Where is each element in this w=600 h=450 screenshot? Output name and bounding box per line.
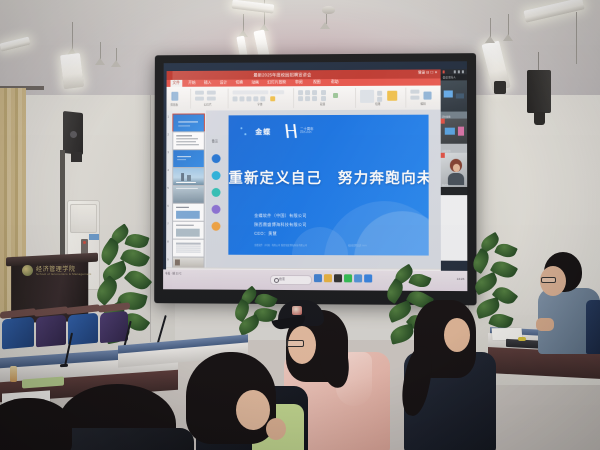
- video-tile-label: 讲台视角: [442, 114, 451, 118]
- swatch-teal[interactable]: [212, 188, 221, 197]
- tab-review[interactable]: 审阅: [295, 80, 303, 85]
- current-slide[interactable]: 金蝶 二十周年 2005-2025 重新定义自己 努力奔跑向未来 金蝶软件（中国…: [228, 115, 428, 256]
- light-rod: [72, 22, 73, 50]
- student-ponytail-right-face: [444, 318, 470, 352]
- desktop: 最新2025年度校园招聘宣讲会 登录 ⊟ ☐ ✕ 文件 开始 插入 设计 切换 …: [163, 61, 467, 291]
- thumb-title-line: [178, 121, 198, 122]
- vc-minimize-icon[interactable]: [454, 71, 456, 73]
- thumb-photo: [176, 229, 200, 237]
- shapes-gallery-icon[interactable]: [360, 90, 374, 103]
- tile-screen-object: [445, 128, 455, 135]
- slide-brand-logo: 金蝶: [255, 127, 271, 137]
- ribbon[interactable]: 剪贴板 幻灯片: [166, 85, 440, 111]
- align-center-icon[interactable]: [305, 96, 310, 101]
- file-explorer-icon[interactable]: [324, 274, 332, 282]
- vc-muted-icon: [441, 153, 445, 158]
- vc-maximize-icon[interactable]: [458, 71, 460, 73]
- ribbon-group-label: 幻灯片: [204, 103, 212, 107]
- slide-thumbnail-7[interactable]: [172, 221, 205, 240]
- video-call-panel[interactable]: 会议主持人 讲台视角 远端会场: [441, 69, 468, 195]
- highlighter-pen: [518, 337, 526, 341]
- thumb-chart: [176, 211, 200, 219]
- tab-design[interactable]: 设计: [220, 81, 228, 86]
- slide-thumbnail-5[interactable]: [172, 185, 205, 204]
- power-indicator-icon: [83, 241, 86, 244]
- thumb-table-head: [176, 243, 201, 245]
- ceiling-tube-light: [60, 53, 84, 89]
- underline-icon[interactable]: [246, 96, 251, 101]
- tab-help[interactable]: 帮助: [331, 80, 339, 85]
- justify-icon[interactable]: [321, 96, 326, 101]
- video-tile-1[interactable]: 讲台视角: [441, 80, 467, 119]
- thumb-number: 7: [167, 222, 169, 226]
- bullets-icon[interactable]: [298, 90, 303, 95]
- font-size-box[interactable]: [270, 90, 284, 94]
- thumb-person: [175, 259, 180, 265]
- quick-styles-icon[interactable]: [387, 91, 397, 101]
- video-tile-label: 黄老师: [442, 183, 449, 187]
- conference-chair: [2, 317, 34, 350]
- thumb-line: [176, 144, 199, 145]
- tile-person-object: [458, 127, 464, 136]
- tab-view[interactable]: 视图: [313, 80, 321, 85]
- meeting-icon[interactable]: [364, 274, 372, 282]
- thumb-table-row: [176, 250, 201, 251]
- speaker-bracket: [71, 152, 82, 162]
- slide-thumbnail-3[interactable]: [172, 149, 205, 168]
- thumb-line: [177, 156, 191, 157]
- smoke-detector-icon: [322, 6, 335, 14]
- swatch-cyan[interactable]: [212, 171, 221, 180]
- thumb-sub-line: [178, 125, 190, 126]
- replace-icon[interactable]: [410, 96, 419, 100]
- screenshot-root: 最新2025年度校园招聘宣讲会 登录 ⊟ ☐ ✕ 文件 开始 插入 设计 切换 …: [0, 0, 600, 450]
- swatch-blue[interactable]: [212, 154, 221, 163]
- school-name-english: School of Economics & Management: [36, 272, 92, 276]
- start-icon[interactable]: [314, 274, 322, 282]
- slide-footer-line-3: CEO：黄慧: [254, 231, 277, 237]
- slide-footer-line-1: 金蝶软件（中国）有限公司: [254, 213, 307, 219]
- slide-thumbnail-2[interactable]: [172, 131, 205, 150]
- thumb-number: 5: [167, 186, 169, 190]
- slide-thumbnail-6[interactable]: [172, 203, 205, 222]
- align-right-icon[interactable]: [312, 96, 317, 101]
- indent-icon[interactable]: [312, 90, 317, 95]
- slide-fineprint-left: 金蝶软件（中国）有限公司 陕西鼎盛博海科技有限公司: [254, 243, 307, 247]
- thumb-table-row: [176, 246, 201, 247]
- slide-footer-line-2: 陕西鼎盛博海科技有限公司: [254, 222, 307, 228]
- reset-icon[interactable]: [195, 97, 204, 101]
- thumb-number: 1: [167, 115, 169, 119]
- paste-icon[interactable]: [171, 92, 178, 101]
- tile-screen-object: [444, 90, 453, 97]
- thumb-line: [176, 182, 196, 183]
- student-front-center-face: [236, 390, 270, 430]
- lectern-nameplate: 经济管理学院 School of Economics & Management: [22, 264, 78, 279]
- video-call-self-name: 会议主持人: [443, 75, 456, 79]
- slide-main-title[interactable]: 重新定义自己 努力奔跑向未来: [228, 167, 428, 188]
- vc-record-icon[interactable]: [443, 71, 445, 73]
- speaker-driver-icon: [70, 131, 77, 138]
- bold-icon[interactable]: [233, 96, 238, 101]
- eyeglasses-icon: [286, 340, 304, 347]
- strikethrough-icon[interactable]: [253, 96, 258, 101]
- participant-face: [453, 164, 460, 172]
- video-panel-empty-area: [441, 195, 468, 261]
- shape-fill-icon[interactable]: [377, 91, 382, 96]
- thumb-line: [177, 159, 186, 160]
- speaker-horn: [534, 112, 545, 125]
- conference-chair: [586, 300, 600, 354]
- search-placeholder: 搜索: [279, 277, 285, 281]
- thumb-line: [176, 207, 189, 208]
- font-name-box[interactable]: [233, 90, 269, 94]
- layout-icon[interactable]: [207, 91, 216, 95]
- numbering-icon[interactable]: [305, 90, 310, 95]
- display-surface[interactable]: 最新2025年度校园招聘宣讲会 登录 ⊟ ☐ ✕ 文件 开始 插入 设计 切换 …: [163, 61, 467, 291]
- document-title: 最新2025年度校园招聘宣讲会: [253, 72, 311, 78]
- line-spacing-icon[interactable]: [321, 90, 326, 95]
- terminal-icon[interactable]: [334, 274, 342, 282]
- eyeglasses-icon: [541, 277, 556, 283]
- slide-brand-sub2: 2005-2025: [300, 131, 311, 134]
- vc-muted-icon: [441, 119, 445, 124]
- thumb-line: [176, 188, 198, 189]
- powerpoint-window[interactable]: 最新2025年度校园招聘宣讲会 登录 ⊟ ☐ ✕ 文件 开始 插入 设计 切换 …: [166, 69, 441, 278]
- ribbon-group-label: 绘图: [375, 102, 380, 106]
- italic-icon[interactable]: [239, 96, 244, 101]
- wall-speaker-right: [527, 70, 551, 113]
- student-front-center-hand: [266, 418, 286, 440]
- window-controls[interactable]: 登录 ⊟ ☐ ✕: [418, 70, 438, 75]
- tab-slideshow[interactable]: 幻灯片放映: [267, 80, 286, 85]
- ribbon-group-label: 编辑: [420, 102, 425, 106]
- light-rod: [100, 42, 101, 60]
- font-color-icon[interactable]: [270, 96, 275, 101]
- light-rod: [508, 14, 509, 36]
- light-rod: [243, 14, 244, 32]
- slide-thumbnail-pane[interactable]: 1 2 3: [166, 110, 207, 267]
- light-rod: [326, 14, 327, 24]
- swatch-purple[interactable]: [212, 205, 221, 214]
- light-rod: [576, 12, 577, 64]
- thumb-table-row: [176, 248, 201, 249]
- slide-thumbnail-4[interactable]: [172, 167, 205, 186]
- tab-animations[interactable]: 动画: [251, 81, 259, 86]
- anniversary-mark-icon: [285, 124, 298, 138]
- slide-editing-canvas[interactable]: 备注: [206, 110, 441, 269]
- conference-chair: [100, 311, 128, 343]
- thumb-table-row: [176, 252, 201, 253]
- thumb-art: [173, 114, 204, 131]
- cap-logo-icon: [292, 306, 302, 315]
- school-emblem-icon: [22, 265, 33, 276]
- thumb-number: 2: [167, 132, 169, 136]
- slide-fineprint-right: 校园招聘宣讲 2025: [348, 243, 367, 247]
- tab-home[interactable]: 开始: [188, 81, 195, 86]
- thumb-number: 4: [167, 168, 169, 172]
- thumb-building: [181, 173, 184, 181]
- designer-icon[interactable]: [423, 92, 431, 100]
- slide-thumbnail-1[interactable]: [172, 113, 205, 132]
- drink-bottle: [10, 366, 17, 382]
- thumb-line: [176, 138, 198, 139]
- thumb-number: 6: [167, 204, 169, 208]
- participant-body: [448, 173, 464, 185]
- video-tile-3[interactable]: 黄老师: [441, 153, 467, 188]
- wechat-icon[interactable]: [344, 274, 352, 282]
- video-tile-2[interactable]: 远端会场: [441, 119, 467, 154]
- thumb-number: 9: [167, 257, 169, 261]
- taskbar-search-box[interactable]: 搜索: [270, 274, 312, 284]
- ribbon-group-label: 段落: [320, 102, 325, 106]
- notes-pane-label: 备注: [212, 138, 218, 143]
- speaker-rod: [538, 52, 539, 72]
- section-icon[interactable]: [207, 97, 216, 101]
- ceiling-camera-icon: [494, 81, 506, 94]
- browser-icon[interactable]: [354, 274, 362, 282]
- vc-close-icon[interactable]: [462, 70, 464, 72]
- tile-desk-object: [456, 93, 464, 98]
- taskbar-weather[interactable]: 今天 · 晴 21°C: [165, 271, 181, 275]
- video-call-title-bar: [441, 69, 467, 74]
- thumb-number: 8: [167, 240, 169, 244]
- ribbon-group-label: 剪贴板: [170, 103, 178, 107]
- thumb-line: [176, 135, 192, 136]
- tab-insert[interactable]: 插入: [204, 81, 211, 86]
- find-icon[interactable]: [410, 90, 419, 94]
- conference-chair: [68, 313, 98, 346]
- taskbar-clock[interactable]: 14:26: [457, 276, 465, 280]
- tab-transitions[interactable]: 切换: [236, 81, 244, 86]
- light-rod: [116, 48, 117, 62]
- text-shadow-icon[interactable]: [260, 96, 265, 101]
- new-slide-icon[interactable]: [195, 91, 204, 95]
- thumb-line: [176, 225, 194, 226]
- ribbon-group-label: 字体: [257, 102, 262, 106]
- swatch-orange[interactable]: [212, 222, 221, 231]
- conference-chair: [36, 315, 66, 348]
- student-far-left-hair: [0, 398, 72, 450]
- thumb-number: 3: [167, 150, 169, 154]
- text-direction-icon[interactable]: [333, 93, 338, 98]
- video-tile-label: 远端会场: [442, 148, 451, 152]
- thumb-building: [187, 175, 191, 181]
- man-right-hand: [536, 318, 554, 331]
- thumb-line: [176, 141, 196, 142]
- slide-thumbnail-8[interactable]: [172, 239, 205, 258]
- align-left-icon[interactable]: [298, 96, 303, 101]
- light-rod: [490, 18, 491, 38]
